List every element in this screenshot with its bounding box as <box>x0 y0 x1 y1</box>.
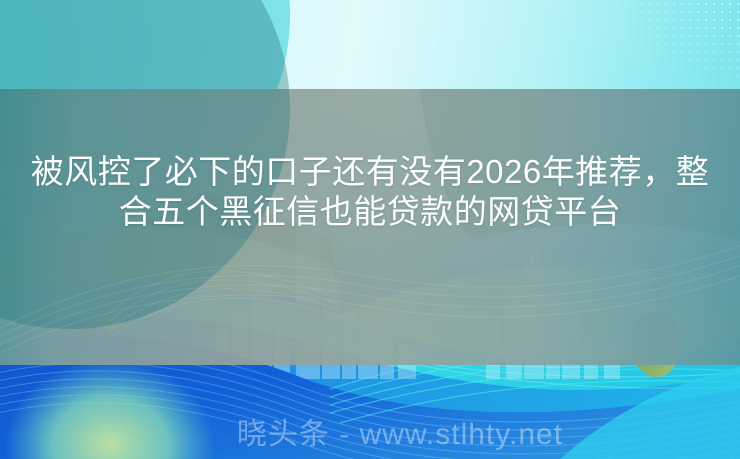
cover-image: 被风控了必下的口子还有没有2026年推荐，整合五个黑征信也能贷款的网贷平台 晓头… <box>0 0 740 459</box>
page-title: 被风控了必下的口子还有没有2026年推荐，整合五个黑征信也能贷款的网贷平台 <box>0 152 740 232</box>
halftone-dots-icon <box>590 0 740 100</box>
